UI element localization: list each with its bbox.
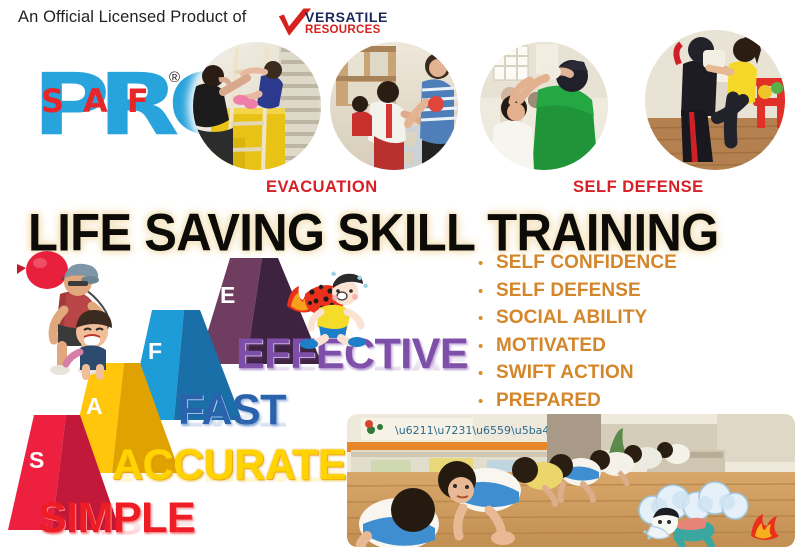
bullet-icon: • [478, 366, 496, 381]
person-on-fire-cartoon [285, 272, 371, 350]
benefit-label: SWIFT ACTION [496, 362, 634, 384]
bullet-icon: • [478, 311, 496, 326]
licensed-product-text: An Official Licensed Product of [18, 8, 246, 27]
benefit-label: MOTIVATED [496, 335, 606, 357]
photo-evacuation-1 [193, 42, 321, 170]
safpro-overlay-word: SAF [41, 85, 168, 117]
benefit-item: • MOTIVATED [478, 335, 677, 363]
versatile-logo-line2: RESOURCES [305, 25, 388, 37]
registered-trademark-icon: ® [169, 69, 180, 86]
photo-evacuation-2 [330, 42, 458, 170]
photo-evacuation-drill: \u6211\u7231\u6559\u5ba4 [347, 414, 795, 547]
benefit-item: • SELF DEFENSE [478, 280, 677, 308]
safe-step-letter-e: E [220, 282, 235, 309]
svg-text:\u6211\u7231\u6559\u5ba4: \u6211\u7231\u6559\u5ba4 [395, 424, 549, 437]
photo-self-defense-2 [645, 30, 785, 170]
benefit-label: SELF DEFENSE [496, 280, 641, 302]
safpro-logo: PRO SAF ® [32, 58, 184, 156]
label-self-defense: SELF DEFENSE [573, 178, 704, 197]
benefit-item: • SOCIAL ABILITY [478, 307, 677, 335]
bullet-icon: • [478, 394, 496, 409]
versatile-logo-line1: VERSATILE [305, 10, 388, 24]
safe-word-simple: SIMPLE SIMPLE [38, 494, 195, 553]
label-evacuation: EVACUATION [266, 178, 378, 197]
benefit-label: PREPARED [496, 390, 601, 412]
poster-canvas: An Official Licensed Product of VERSATIL… [0, 0, 799, 553]
photo-self-defense-1 [480, 42, 608, 170]
safe-step-letter-f: F [148, 338, 162, 365]
benefit-item: • PREPARED [478, 390, 677, 418]
bullet-icon: • [478, 256, 496, 271]
benefits-list: • SELF CONFIDENCE • SELF DEFENSE • SOCIA… [478, 252, 677, 417]
benefit-item: • SWIFT ACTION [478, 362, 677, 390]
bullet-icon: • [478, 284, 496, 299]
bullet-icon: • [478, 339, 496, 354]
benefit-label: SELF CONFIDENCE [496, 252, 677, 274]
benefit-label: SOCIAL ABILITY [496, 307, 647, 329]
benefit-item: • SELF CONFIDENCE [478, 252, 677, 280]
versatile-resources-logo: VERSATILE RESOURCES [278, 6, 400, 40]
safe-step-letter-s: S [29, 447, 44, 474]
abduction-cartoon [14, 248, 142, 376]
